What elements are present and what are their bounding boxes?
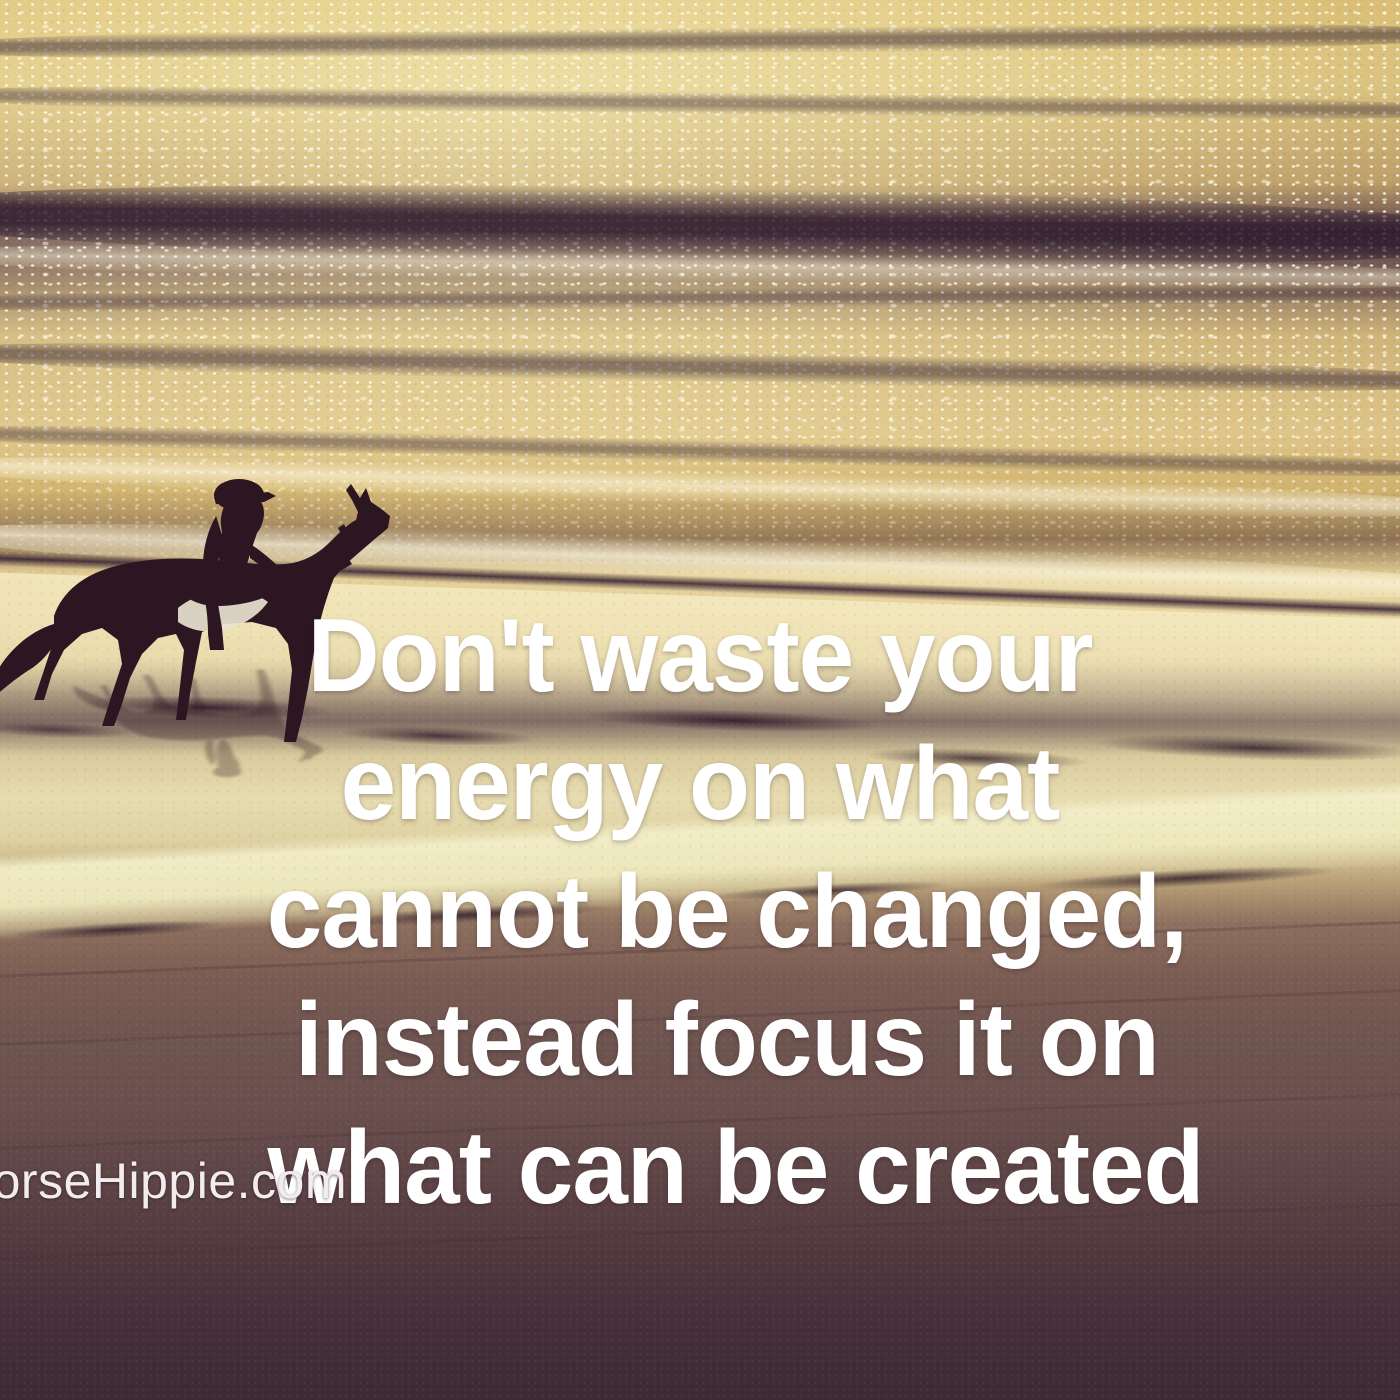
site-watermark: HorseHippie.com — [0, 1152, 347, 1210]
horse-rider-silhouette — [0, 420, 422, 820]
quote-image-canvas: Don't waste your energy on what cannot b… — [0, 0, 1400, 1400]
